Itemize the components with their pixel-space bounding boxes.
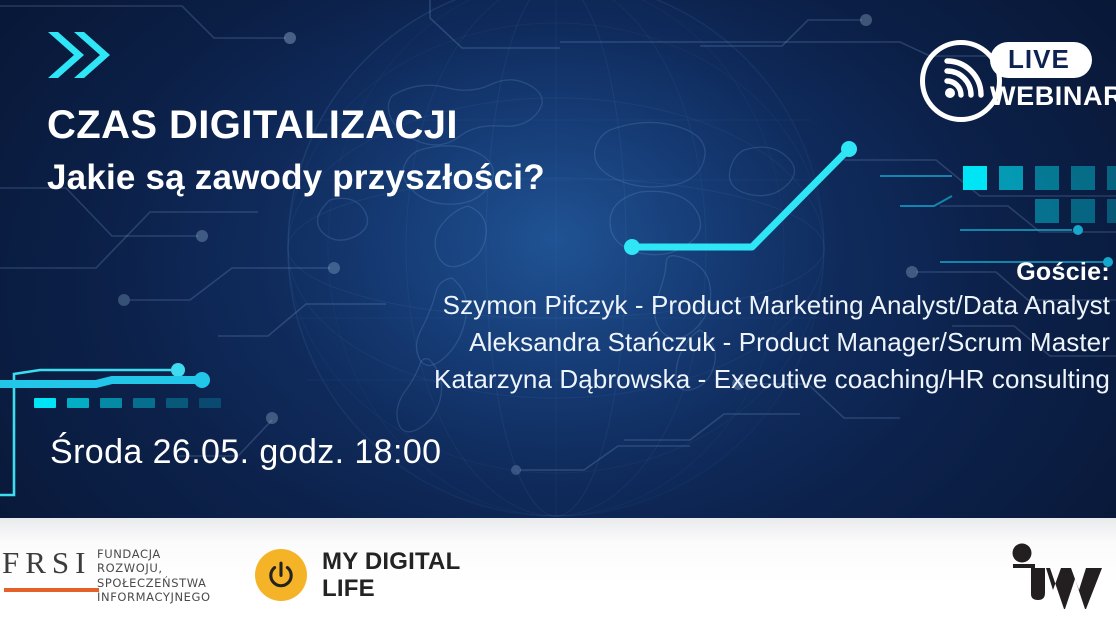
- guests-block: Goście: Szymon Pifczyk - Product Marketi…: [110, 258, 1110, 398]
- iw-wordmark: [1004, 540, 1116, 610]
- double-chevron-right-icon: [44, 28, 112, 84]
- hero-banner: CZAS DIGITALIZACJI Jakie są zawody przys…: [0, 0, 1116, 518]
- live-webinar-badge: LIVE WEBINAR: [906, 36, 1112, 132]
- footer-logo-bar: FRSI FUNDACJA ROZWOJU, SPOŁECZEŃSTWA INF…: [0, 518, 1116, 628]
- frsi-fullname-line2: ROZWOJU,: [97, 561, 211, 575]
- power-button-icon: [255, 549, 307, 601]
- guest-item: Szymon Pifczyk - Product Marketing Analy…: [110, 287, 1110, 324]
- live-label: LIVE: [990, 42, 1092, 78]
- frsi-wordmark: FRSI: [2, 545, 91, 581]
- mdl-line1: MY DIGITAL: [322, 549, 460, 576]
- webinar-label: WEBINAR: [990, 81, 1114, 112]
- mdl-line2: LIFE: [322, 576, 460, 603]
- title-block: CZAS DIGITALIZACJI Jakie są zawody przys…: [47, 104, 807, 198]
- page-title: CZAS DIGITALIZACJI: [47, 104, 807, 147]
- frsi-fullname: FUNDACJA ROZWOJU, SPOŁECZEŃSTWA INFORMAC…: [97, 547, 211, 604]
- frsi-fullname-line1: FUNDACJA: [97, 547, 211, 561]
- square-row-1: [963, 166, 1116, 190]
- badge-text-wrap: LIVE WEBINAR: [990, 42, 1114, 112]
- guest-item: Aleksandra Stańczuk - Product Manager/Sc…: [110, 324, 1110, 361]
- dash-row: [34, 398, 221, 408]
- frsi-fullname-line4: INFORMACYJNEGO: [97, 590, 211, 604]
- guest-item: Katarzyna Dąbrowska - Executive coaching…: [110, 361, 1110, 398]
- my-digital-life-logo: MY DIGITAL LIFE: [255, 545, 505, 607]
- webinar-banner-page: CZAS DIGITALIZACJI Jakie są zawody przys…: [0, 0, 1116, 628]
- square-row-2: [1035, 199, 1116, 223]
- frsi-underline: [4, 588, 99, 592]
- event-datetime: Środa 26.05. godz. 18:00: [50, 433, 441, 472]
- frsi-fullname-line3: SPOŁECZEŃSTWA: [97, 576, 211, 590]
- my-digital-life-wordmark: MY DIGITAL LIFE: [322, 549, 460, 603]
- iw-logo: [1004, 540, 1116, 610]
- broadcast-signal-icon: [937, 57, 985, 105]
- page-subtitle: Jakie są zawody przyszłości?: [47, 159, 807, 198]
- guests-label: Goście:: [110, 258, 1110, 287]
- frsi-logo: FRSI FUNDACJA ROZWOJU, SPOŁECZEŃSTWA INF…: [2, 545, 227, 605]
